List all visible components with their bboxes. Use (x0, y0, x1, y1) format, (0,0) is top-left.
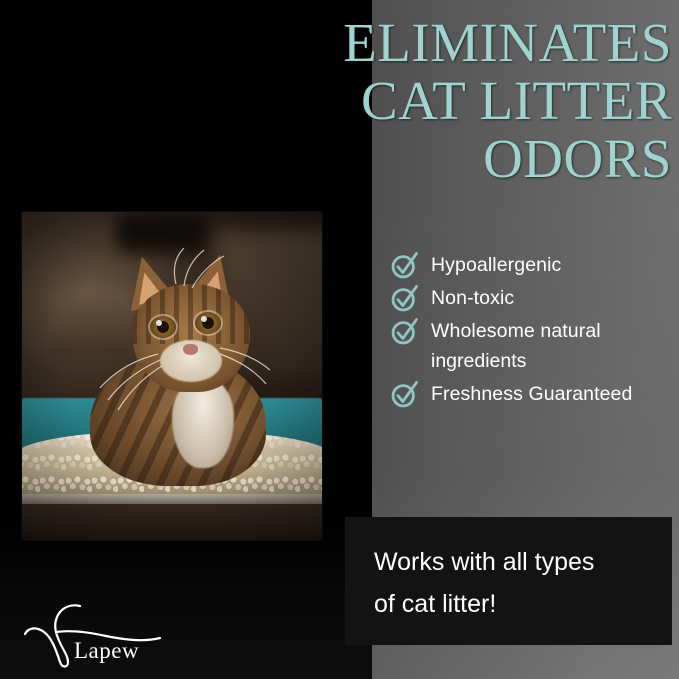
kitten-litterbox-photo (22, 212, 322, 540)
benefits-list: Hypoallergenic Non-toxic Wholesome natur… (390, 250, 678, 412)
list-item: Non-toxic (390, 283, 678, 313)
check-circle-icon (390, 283, 420, 313)
check-circle-icon (390, 250, 420, 280)
photo-vignette (22, 212, 322, 540)
list-item-label: Freshness Guaranteed (431, 379, 632, 409)
product-ad-image: ELIMINATES CAT LITTER ODORS (0, 0, 679, 679)
list-item: Freshness Guaranteed (390, 379, 678, 409)
page-title: ELIMINATES CAT LITTER ODORS (300, 14, 672, 188)
callout-box: Works with all types of cat litter! (345, 517, 672, 645)
headline-line-2: CAT LITTER (300, 72, 672, 130)
list-item-label: Wholesome natural (431, 316, 601, 346)
headline-line-3: ODORS (300, 130, 672, 188)
list-item: Wholesome natural (390, 316, 678, 346)
brand-logo: Lapew (22, 598, 182, 670)
list-item: Hypoallergenic (390, 250, 678, 280)
callout-text: Works with all types of cat litter! (374, 541, 654, 625)
headline-line-1: ELIMINATES (300, 14, 672, 72)
list-item-label-continuation: ingredients (431, 346, 678, 376)
brand-name: Lapew (74, 638, 139, 664)
list-item-label: Hypoallergenic (431, 250, 561, 280)
callout-line-1: Works with all types (374, 541, 654, 583)
list-item-label: Non-toxic (431, 283, 514, 313)
check-circle-icon (390, 379, 420, 409)
callout-line-2: of cat litter! (374, 583, 654, 625)
check-circle-icon (390, 316, 420, 346)
